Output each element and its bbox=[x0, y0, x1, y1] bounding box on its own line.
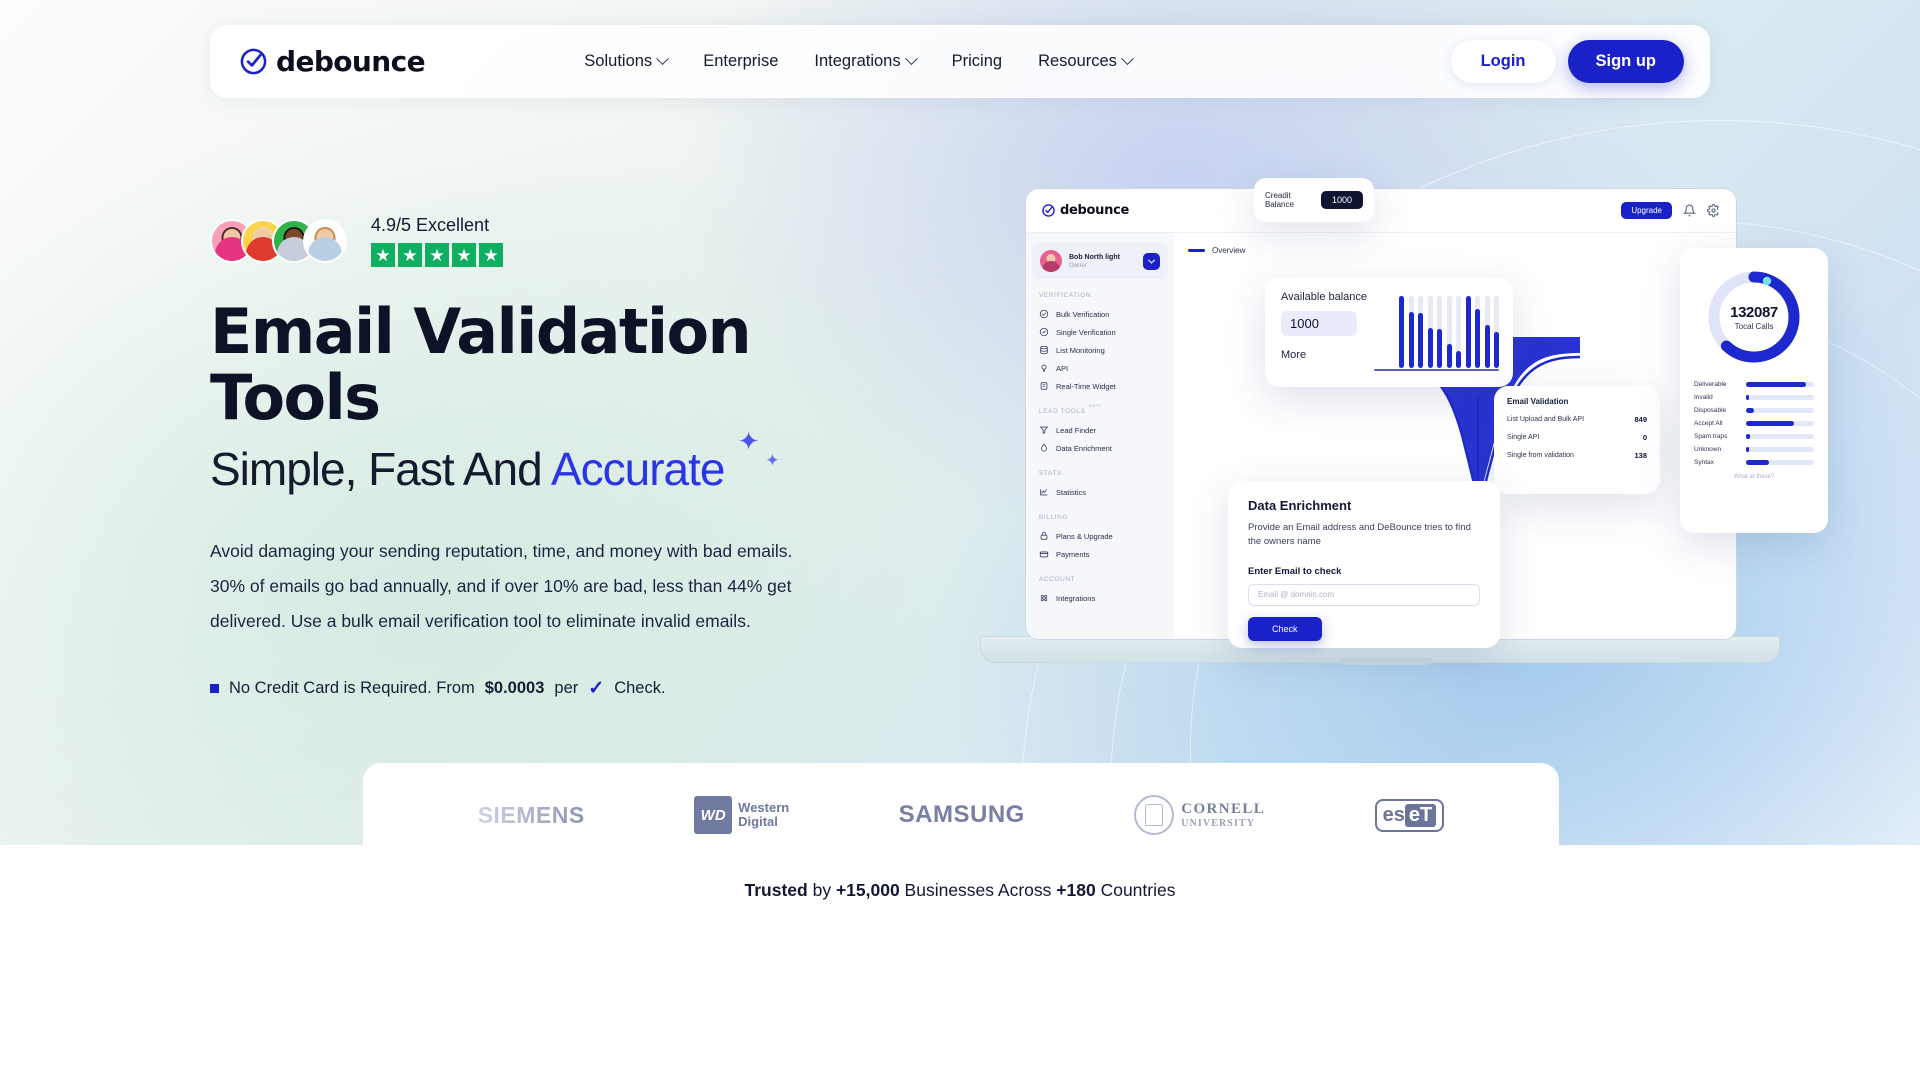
check-button[interactable]: Check bbox=[1248, 617, 1322, 641]
bar-track bbox=[1485, 296, 1490, 368]
stat-row: Spam traps bbox=[1694, 433, 1814, 440]
sidebar-item-bulk-verification[interactable]: Bulk Verification bbox=[1026, 305, 1174, 323]
donut-center-label: 132087 Tocal Calls bbox=[1704, 267, 1804, 367]
stat-label: Accept All bbox=[1694, 420, 1746, 427]
bar-track bbox=[1475, 296, 1480, 368]
sidebar-user-name: Bob North light bbox=[1069, 253, 1120, 262]
chevron-down-icon bbox=[905, 52, 918, 65]
overview-indicator bbox=[1188, 249, 1205, 252]
stat-fill bbox=[1746, 421, 1794, 426]
dashboard-logo: debounce bbox=[1042, 203, 1129, 218]
table-row: Single from validation 138 bbox=[1507, 451, 1647, 460]
total-calls-card: 132087 Tocal Calls DeliverableInvalidDis… bbox=[1680, 248, 1828, 533]
data-enrichment-title: Data Enrichment bbox=[1248, 498, 1480, 513]
logo-samsung: SAMSUNG bbox=[899, 801, 1025, 829]
balance-chart-axis bbox=[1374, 369, 1499, 371]
grid-dots-icon bbox=[1039, 593, 1049, 603]
stat-label: Syntax bbox=[1694, 459, 1746, 466]
stat-track bbox=[1746, 460, 1814, 465]
bar-fill bbox=[1456, 351, 1461, 368]
stat-track bbox=[1746, 408, 1814, 413]
dashboard-topbar: debounce Upgrade bbox=[1026, 189, 1736, 233]
chevron-down-icon bbox=[1121, 52, 1134, 65]
check-circle-icon bbox=[1039, 309, 1049, 319]
bar-track bbox=[1456, 296, 1461, 368]
cc-mid: per bbox=[554, 679, 578, 698]
sidebar-section-title: VERIFICATION bbox=[1039, 292, 1091, 299]
row-value: 138 bbox=[1634, 451, 1647, 460]
nav-item-label: Enterprise bbox=[703, 52, 778, 71]
lock-icon bbox=[1039, 531, 1049, 541]
page-title: Email Validation Tools bbox=[210, 299, 870, 430]
plug-icon bbox=[1039, 363, 1049, 373]
email-validation-card: Email Validation List Upload and Bulk AP… bbox=[1494, 386, 1660, 494]
cornell-seal-icon bbox=[1134, 795, 1174, 835]
wd-line1: Western bbox=[738, 801, 789, 815]
bar-track bbox=[1494, 296, 1499, 368]
star-icon: ★ bbox=[371, 243, 395, 267]
sparkle-icon: ✦ bbox=[765, 452, 778, 469]
row-value: 849 bbox=[1634, 415, 1647, 424]
nav-item-pricing[interactable]: Pricing bbox=[952, 52, 1002, 71]
beta-badge: BETA bbox=[1089, 403, 1103, 408]
widget-icon bbox=[1039, 381, 1049, 391]
checkmark-badge-icon bbox=[240, 48, 267, 75]
check-icon: ✓ bbox=[588, 677, 604, 700]
sidebar-item-label: API bbox=[1056, 364, 1068, 373]
row-label: List Upload and Bulk API bbox=[1507, 416, 1584, 423]
call-breakdown-list: DeliverableInvalidDisposableAccept AllSp… bbox=[1694, 381, 1814, 466]
laptop-notch bbox=[1340, 658, 1432, 665]
cornell-text: CORNELL UNIVERSITY bbox=[1181, 801, 1265, 829]
sidebar-item-api[interactable]: API bbox=[1026, 359, 1174, 377]
sidebar-section-title: STATS bbox=[1039, 470, 1062, 477]
total-calls-value: 132087 bbox=[1730, 304, 1778, 321]
sidebar-item-list-monitoring[interactable]: List Monitoring bbox=[1026, 341, 1174, 359]
brand-logo-text: debounce bbox=[276, 45, 425, 78]
stat-label: Disposable bbox=[1694, 407, 1746, 414]
sidebar-user-role: Owner bbox=[1069, 263, 1120, 269]
sidebar-item-statistics[interactable]: Statistics bbox=[1026, 483, 1174, 501]
stat-row: Invalid bbox=[1694, 394, 1814, 401]
logo-cornell-university: CORNELL UNIVERSITY bbox=[1134, 795, 1265, 835]
data-enrichment-card: Data Enrichment Provide an Email address… bbox=[1228, 481, 1500, 648]
available-balance-card: Available balance 1000 More bbox=[1265, 277, 1513, 387]
bar-fill bbox=[1466, 296, 1471, 368]
wallet-icon bbox=[1039, 549, 1049, 559]
eset-left: es bbox=[1383, 804, 1405, 827]
stat-fill bbox=[1746, 460, 1769, 465]
checkmark-badge-icon bbox=[1042, 204, 1055, 217]
trusted-mid1: by bbox=[808, 880, 836, 900]
credit-balance-card: Creadit Balance 1000 bbox=[1254, 178, 1374, 222]
dashboard-topbar-actions: Upgrade bbox=[1621, 202, 1720, 219]
bar-fill bbox=[1428, 328, 1433, 368]
droplet-icon bbox=[1039, 443, 1049, 453]
balance-bar-chart bbox=[1399, 296, 1499, 368]
login-button[interactable]: Login bbox=[1451, 40, 1556, 83]
sidebar-item-lead-finder[interactable]: Lead Finder bbox=[1026, 421, 1174, 439]
bullet-icon bbox=[210, 684, 219, 693]
dashboard-logo-text: debounce bbox=[1060, 203, 1129, 218]
nav-item-label: Pricing bbox=[952, 52, 1002, 71]
trusted-line: Trusted by +15,000 Businesses Across +18… bbox=[0, 880, 1920, 901]
gear-icon[interactable] bbox=[1707, 204, 1720, 217]
sparkle-icon: ✦ bbox=[738, 428, 759, 454]
data-enrichment-description: Provide an Email address and DeBounce tr… bbox=[1248, 521, 1480, 550]
trusted-country-count: +180 bbox=[1056, 880, 1095, 900]
wd-text: Western Digital bbox=[738, 801, 789, 828]
stat-fill bbox=[1746, 447, 1749, 452]
available-balance-value: 1000 bbox=[1281, 311, 1357, 336]
bar-fill bbox=[1418, 313, 1423, 368]
email-validation-title: Email Validation bbox=[1507, 397, 1647, 406]
nav-item-label: Integrations bbox=[814, 52, 900, 71]
cc-prefix: No Credit Card is Required. From bbox=[229, 679, 475, 698]
layers-icon bbox=[1039, 345, 1049, 355]
sidebar-user-card[interactable]: Bob North light Owner bbox=[1032, 243, 1168, 279]
wd-mark-icon: WD bbox=[694, 796, 732, 834]
stat-row: Accept All bbox=[1694, 420, 1814, 427]
bar-fill bbox=[1399, 296, 1404, 368]
table-row: Single API 0 bbox=[1507, 433, 1647, 442]
check-shield-icon bbox=[1039, 327, 1049, 337]
sidebar-item-data-enrichment[interactable]: Data Enrichment bbox=[1026, 439, 1174, 457]
nav-item-enterprise[interactable]: Enterprise bbox=[703, 52, 778, 71]
trusted-word: Trusted bbox=[745, 880, 808, 900]
bar-fill bbox=[1447, 344, 1452, 368]
stat-row: Syntax bbox=[1694, 459, 1814, 466]
chevron-down-icon bbox=[656, 52, 669, 65]
bar-fill bbox=[1437, 329, 1442, 368]
stat-label: Deliverable bbox=[1694, 381, 1746, 388]
sidebar-section-title: BILLING bbox=[1039, 514, 1068, 521]
what-are-these-link[interactable]: What ar these? bbox=[1694, 474, 1814, 480]
upgrade-button[interactable]: Upgrade bbox=[1621, 202, 1672, 219]
cc-price: $0.0003 bbox=[485, 679, 545, 698]
trusted-suffix: Countries bbox=[1096, 880, 1176, 900]
wd-line2: Digital bbox=[738, 815, 789, 829]
sidebar-item-single-verification[interactable]: Single Verification bbox=[1026, 323, 1174, 341]
cornell-line2: UNIVERSITY bbox=[1181, 818, 1265, 829]
brand-logo[interactable]: debounce bbox=[240, 45, 425, 78]
nav-item-resources[interactable]: Resources bbox=[1038, 52, 1132, 71]
total-calls-label: Tocal Calls bbox=[1735, 322, 1774, 331]
funnel-icon bbox=[1039, 425, 1049, 435]
main-navbar: debounce Solutions Enterprise Integratio… bbox=[210, 25, 1710, 98]
star-icon: ★ bbox=[398, 243, 422, 267]
star-rating: ★ ★ ★ ★ ★ bbox=[371, 243, 503, 267]
chevron-down-icon[interactable] bbox=[1143, 253, 1160, 270]
logo-eset: es eT bbox=[1375, 799, 1445, 832]
page-subtitle: Simple, Fast And Accurate ✦ ✦ bbox=[210, 442, 725, 496]
nav-links: Solutions Enterprise Integrations Pricin… bbox=[584, 52, 1132, 71]
stat-track bbox=[1746, 395, 1814, 400]
donut-chart: 132087 Tocal Calls bbox=[1704, 267, 1804, 367]
sidebar-item-label: Single Verification bbox=[1056, 328, 1116, 337]
overview-tab[interactable]: Overview bbox=[1188, 246, 1736, 255]
stat-fill bbox=[1746, 382, 1806, 387]
bell-icon[interactable] bbox=[1683, 204, 1696, 217]
hero-section: 4.9/5 Excellent ★ ★ ★ ★ ★ Email Validati… bbox=[210, 215, 870, 700]
avatar-group bbox=[210, 219, 347, 263]
stat-row: Deliverable bbox=[1694, 381, 1814, 388]
subtitle-prefix: Simple, Fast And bbox=[210, 443, 551, 495]
row-label: Single API bbox=[1507, 434, 1539, 441]
sidebar-item-label: Statistics bbox=[1056, 488, 1086, 497]
bar-fill bbox=[1485, 325, 1490, 368]
sidebar-item-label: List Monitoring bbox=[1056, 346, 1105, 355]
stat-track bbox=[1746, 382, 1814, 387]
trusted-business-count: +15,000 bbox=[836, 880, 900, 900]
signup-button[interactable]: Sign up bbox=[1568, 40, 1685, 83]
sidebar-item-label: Data Enrichment bbox=[1056, 444, 1112, 453]
sidebar-item-payments[interactable]: Payments bbox=[1026, 545, 1174, 563]
bar-fill bbox=[1409, 312, 1414, 368]
nav-item-solutions[interactable]: Solutions bbox=[584, 52, 667, 71]
stat-row: Unknown bbox=[1694, 446, 1814, 453]
sidebar-item-real-time-widget[interactable]: Real-Time Widget bbox=[1026, 377, 1174, 395]
rating-row: 4.9/5 Excellent ★ ★ ★ ★ ★ bbox=[210, 215, 870, 267]
sidebar-item-label: Lead Finder bbox=[1056, 426, 1096, 435]
logo-western-digital: WD Western Digital bbox=[694, 796, 789, 834]
star-icon: ★ bbox=[479, 243, 503, 267]
row-label: Single from validation bbox=[1507, 452, 1574, 459]
hero-paragraph: Avoid damaging your sending reputation, … bbox=[210, 534, 800, 639]
credit-balance-label: Creadit Balance bbox=[1265, 191, 1311, 209]
dashboard-sidebar: Bob North light Owner VERIFICATION Bulk … bbox=[1026, 233, 1174, 639]
sidebar-item-integrations[interactable]: Integrations bbox=[1026, 589, 1174, 607]
email-input-label: Enter Email to check bbox=[1248, 566, 1480, 577]
bar-track bbox=[1466, 296, 1471, 368]
eset-right: eT bbox=[1405, 804, 1436, 827]
sidebar-section-title: LEAD TOOLS BETA bbox=[1039, 408, 1086, 415]
bar-track bbox=[1418, 296, 1423, 368]
credit-balance-value: 1000 bbox=[1321, 191, 1363, 209]
avatar bbox=[303, 219, 347, 263]
nav-item-label: Resources bbox=[1038, 52, 1117, 71]
stat-label: Unknown bbox=[1694, 446, 1746, 453]
trusted-mid2: Businesses Across bbox=[900, 880, 1057, 900]
cornell-line1: CORNELL bbox=[1181, 801, 1265, 818]
sidebar-item-label: Real-Time Widget bbox=[1056, 382, 1116, 391]
email-input[interactable] bbox=[1248, 584, 1480, 606]
avatar bbox=[1040, 250, 1062, 272]
stat-row: Disposable bbox=[1694, 407, 1814, 414]
bar-fill bbox=[1475, 309, 1480, 368]
star-icon: ★ bbox=[425, 243, 449, 267]
sidebar-item-label: Payments bbox=[1056, 550, 1089, 559]
stat-track bbox=[1746, 447, 1814, 452]
stat-fill bbox=[1746, 434, 1750, 439]
bar-track bbox=[1409, 296, 1414, 368]
table-row: List Upload and Bulk API 849 bbox=[1507, 415, 1647, 424]
sidebar-item-label: Integrations bbox=[1056, 594, 1095, 603]
sidebar-section-label: LEAD TOOLS bbox=[1039, 408, 1086, 415]
row-value: 0 bbox=[1643, 433, 1647, 442]
no-credit-card-note: No Credit Card is Required. From $0.0003… bbox=[210, 677, 870, 700]
stat-fill bbox=[1746, 395, 1749, 400]
subtitle-accent: Accurate bbox=[551, 443, 725, 495]
stat-track bbox=[1746, 434, 1814, 439]
nav-item-label: Solutions bbox=[584, 52, 652, 71]
sidebar-item-label: Bulk Verification bbox=[1056, 310, 1109, 319]
bar-track bbox=[1399, 296, 1404, 368]
bar-track bbox=[1447, 296, 1452, 368]
sidebar-item-label: Plans & Upgrade bbox=[1056, 532, 1113, 541]
star-icon: ★ bbox=[452, 243, 476, 267]
overview-label: Overview bbox=[1212, 246, 1245, 255]
rating-meta: 4.9/5 Excellent ★ ★ ★ ★ ★ bbox=[371, 215, 503, 267]
customer-logos-strip: SIEMENS WD Western Digital SAMSUNG CORNE… bbox=[363, 763, 1559, 867]
stat-fill bbox=[1746, 408, 1754, 413]
sidebar-item-plans-upgrade[interactable]: Plans & Upgrade bbox=[1026, 527, 1174, 545]
stat-label: Invalid bbox=[1694, 394, 1746, 401]
stat-label: Spam traps bbox=[1694, 433, 1746, 440]
bar-track bbox=[1437, 296, 1442, 368]
chart-line-icon bbox=[1039, 487, 1049, 497]
logo-siemens: SIEMENS bbox=[478, 802, 585, 829]
rating-text: 4.9/5 Excellent bbox=[371, 215, 503, 236]
nav-item-integrations[interactable]: Integrations bbox=[814, 52, 915, 71]
cc-suffix: Check. bbox=[614, 679, 665, 698]
sidebar-section-title: ACCOUNT bbox=[1039, 576, 1075, 583]
bar-fill bbox=[1494, 332, 1499, 368]
bar-track bbox=[1428, 296, 1433, 368]
nav-actions: Login Sign up bbox=[1451, 40, 1684, 83]
stat-track bbox=[1746, 421, 1814, 426]
